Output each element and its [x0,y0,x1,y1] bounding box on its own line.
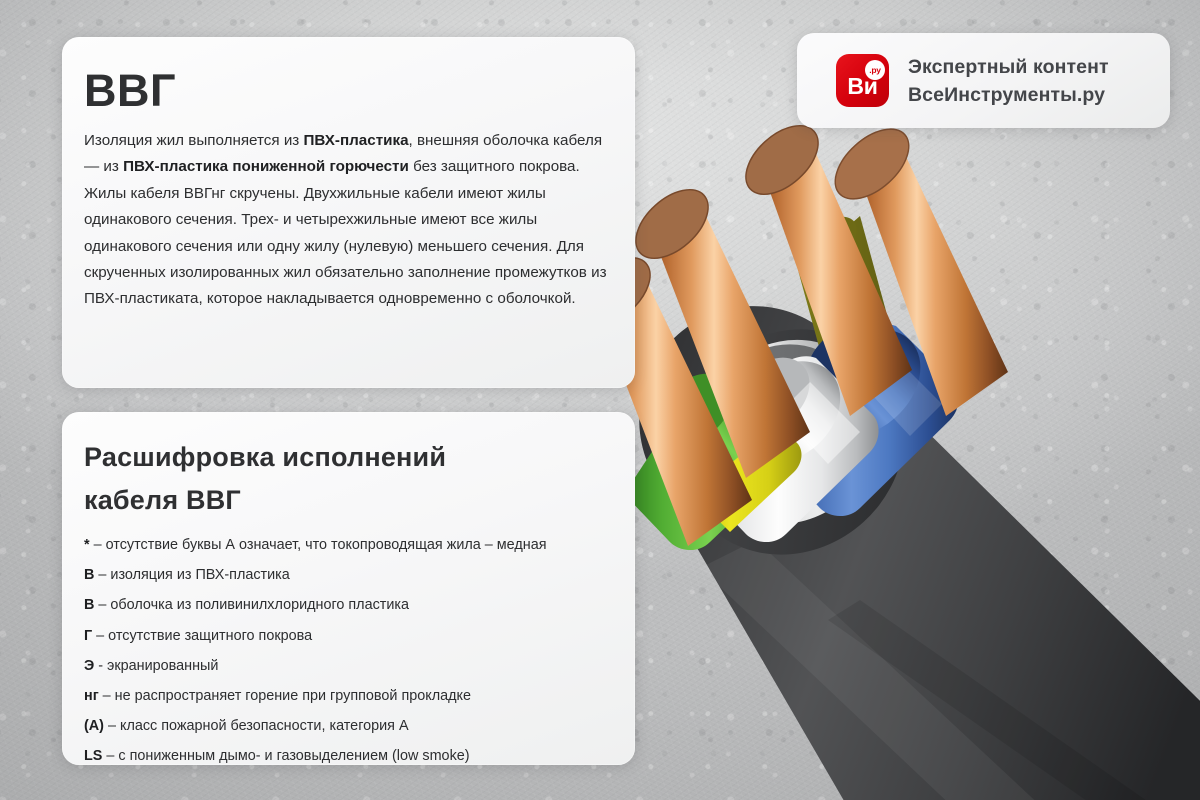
brand-line-2: ВсеИнструменты.ру [908,81,1109,109]
decode-list-item: В – оболочка из поливинилхлоридного плас… [84,590,609,620]
cable-illustration [560,120,1200,800]
screenshot-stage: ВВГ Изоляция жил выполняется из ПВХ-плас… [0,0,1200,800]
decode-list-item: * – отсутствие буквы А означает, что ток… [84,530,609,560]
intro-seg-1: Изоляция жил выполняется из [84,132,303,149]
decode-item-text: – не распространяет горение при группово… [99,688,471,704]
decode-list-item: Г – отсутствие защитного покрова [84,621,609,651]
decode-item-key: В [84,567,94,583]
decode-item-text: – отсутствие защитного покрова [92,628,312,644]
decode-list-item: нг – не распространяет горение при групп… [84,681,609,711]
decode-item-key: В [84,597,94,613]
brand-badge: Ви .ру Экспертный контент ВсеИнструменты… [797,33,1170,128]
intro-card: ВВГ Изоляция жил выполняется из ПВХ-плас… [62,37,635,388]
brand-text-block: Экспертный контент ВсеИнструменты.ру [889,53,1109,109]
logo-ru-chip: .ру [865,60,885,80]
logo-mark-text: Ви [836,75,889,98]
brand-line-1: Экспертный контент [908,53,1109,81]
decode-item-key: (А) [84,718,104,734]
decode-item-key: Г [84,628,92,644]
decode-item-text: – класс пожарной безопасности, категория… [104,718,409,734]
intro-bold-2: ПВХ-пластика пониженной горючести [123,158,409,175]
decode-item-text: – отсутствие буквы А означает, что токоп… [90,537,547,553]
decode-item-key: LS [84,748,102,764]
intro-seg-3: без защитного покрова. Жилы кабеля ВВГнг… [84,158,607,307]
decode-item-text: – с пониженным дымо- и газовыделением (l… [102,748,469,764]
intro-bold-1: ПВХ-пластика [303,132,408,149]
decode-item-text: – оболочка из поливинилхлоридного пласти… [94,597,409,613]
page-title: ВВГ [62,37,635,115]
decode-list-item: LS – с пониженным дымо- и газовыделением… [84,741,609,771]
decode-item-key: Э [84,658,94,674]
decode-title-line2: кабеля ВВГ [84,485,241,515]
decode-list-item: Э - экранированный [84,651,609,681]
decode-title-line1: Расшифровка исполнений [84,442,446,472]
decode-list: * – отсутствие буквы А означает, что ток… [62,522,635,772]
decode-card: Расшифровка исполнений кабеля ВВГ * – от… [62,412,635,765]
decode-list-item: (А) – класс пожарной безопасности, катег… [84,711,609,741]
decode-list-item: В – изоляция из ПВХ-пластика [84,560,609,590]
intro-paragraph: Изоляция жил выполняется из ПВХ-пластика… [62,115,635,313]
decode-item-key: нг [84,688,99,704]
decode-item-text: – изоляция из ПВХ-пластика [94,567,289,583]
vseinstrumenty-logo-icon: Ви .ру [836,54,889,107]
decode-card-title: Расшифровка исполнений кабеля ВВГ [62,412,635,522]
decode-item-text: - экранированный [94,658,218,674]
